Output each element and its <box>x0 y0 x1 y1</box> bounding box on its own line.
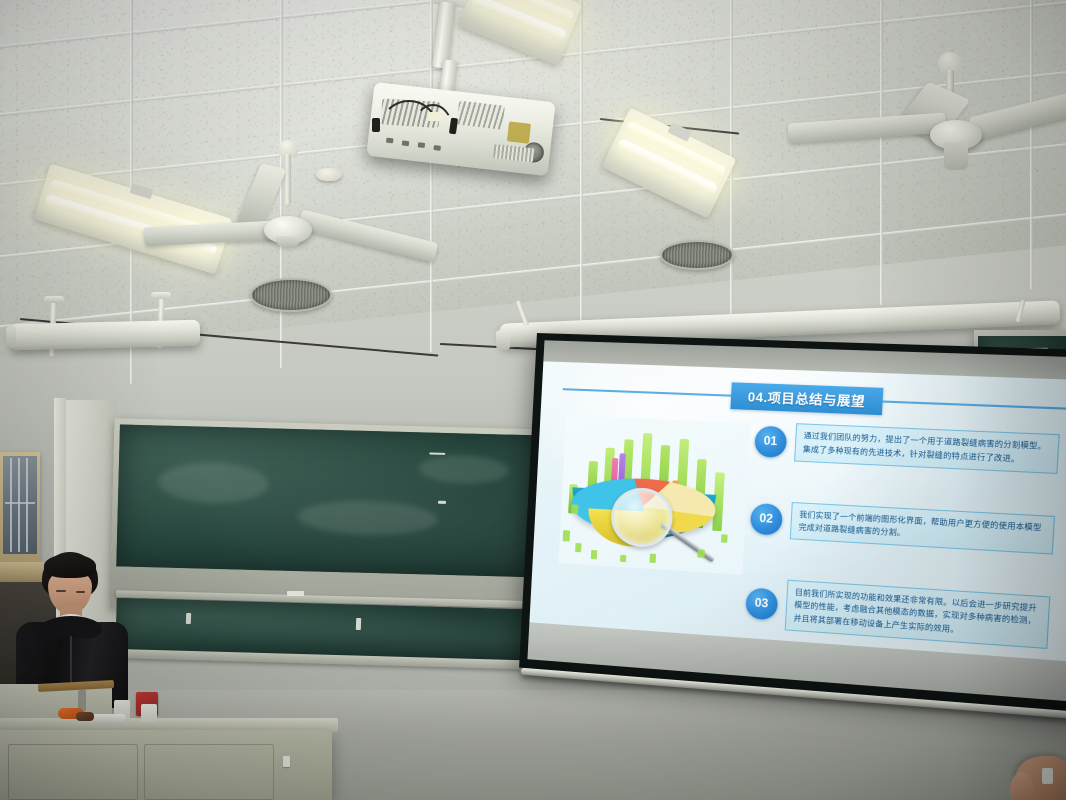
fan-blade <box>143 221 277 247</box>
point-text-02: 我们实现了一个前端的图形化界面，帮助用户更方便的使用本模型完成对道路裂缝病害的分… <box>789 502 1055 555</box>
confetti-icon <box>575 543 582 552</box>
confetti-icon <box>698 549 705 558</box>
barred-window-glass <box>3 456 37 554</box>
confetti-icon <box>721 534 728 543</box>
ceiling-fan-right <box>790 52 1060 167</box>
projection-screen: 04.项目总结与展望 <box>519 333 1066 712</box>
point-badge-03: 03 <box>745 587 778 620</box>
presenter-eye <box>76 591 85 593</box>
chalkboard-left-upper <box>116 424 550 577</box>
projector-button[interactable] <box>402 140 410 146</box>
projection-screen-roller-left[interactable] <box>10 320 201 351</box>
screen-roller-bracket-foot <box>44 296 64 303</box>
screen-surface: 04.项目总结与展望 <box>527 340 1066 701</box>
fan-motor <box>944 142 968 170</box>
point-text-03: 目前我们所实现的功能和效果还非常有限。以后会进一步研究提升模型的性能，考虑融合其… <box>784 580 1050 649</box>
screen-roller-bracket-foot <box>151 292 171 299</box>
chalk-piece[interactable] <box>356 618 361 630</box>
projector-button[interactable] <box>433 145 441 151</box>
projector-button[interactable] <box>386 138 394 144</box>
slide-title: 04.项目总结与展望 <box>730 382 883 415</box>
roller-end-cap <box>6 326 16 348</box>
slide-points-column: 01 通过我们团队的努力，提出了一个用于道路裂缝病害的分割模型。集成了多种现有的… <box>739 420 1066 651</box>
foreground-hand-thumb <box>1010 772 1034 800</box>
slide-point-03: 03 目前我们所实现的功能和效果还非常有限。以后会进一步研究提升模型的性能，考虑… <box>744 577 1050 649</box>
title-rule-left <box>562 388 733 397</box>
projector-plug <box>372 118 380 132</box>
fan-blade <box>969 91 1066 141</box>
desk-lock-plate <box>283 756 290 767</box>
ceiling-air-vent <box>250 278 332 312</box>
desk-drawer-panel[interactable] <box>144 744 274 800</box>
ceiling-air-vent <box>660 240 734 270</box>
slide-point-01: 01 通过我们团队的努力，提出了一个用于道路裂缝病害的分割模型。集成了多种现有的… <box>754 422 1060 474</box>
smoke-detector <box>316 168 342 181</box>
held-white-object <box>1042 768 1053 784</box>
slide-illustration-column <box>530 411 750 627</box>
confetti-icon <box>563 530 571 541</box>
presentation-slide: 04.项目总结与展望 <box>529 361 1066 662</box>
confetti-icon <box>591 550 598 559</box>
point-badge-01: 01 <box>754 425 787 457</box>
confetti-icon <box>649 553 656 562</box>
projector-vent-icon <box>456 101 504 130</box>
pie-bar-chart-illustration <box>558 416 750 574</box>
projector-warning-label <box>507 121 531 143</box>
brown-object[interactable] <box>76 712 94 721</box>
fan-rod <box>284 154 291 204</box>
fan-blade <box>787 113 946 144</box>
confetti-icon <box>620 555 627 563</box>
chalk-piece[interactable] <box>186 613 191 624</box>
projector-button[interactable] <box>418 142 426 148</box>
fan-motor <box>276 236 300 247</box>
chalk-piece[interactable] <box>287 591 304 596</box>
desk-drawer-panel[interactable] <box>8 744 138 800</box>
fan-blade <box>298 209 438 262</box>
classroom-photo: 04.项目总结与展望 <box>0 0 1066 800</box>
point-text-01: 通过我们团队的努力，提出了一个用于道路裂缝病害的分割模型。集成了多种现有的先进技… <box>794 424 1060 474</box>
title-rule-right <box>880 401 1066 410</box>
point-badge-02: 02 <box>749 503 782 536</box>
confetti-icon <box>572 504 579 513</box>
slide-point-02: 02 我们实现了一个前端的图形化界面，帮助用户更方便的使用本模型完成对道路裂缝病… <box>749 500 1055 555</box>
presenter-fringe <box>44 554 96 578</box>
roller-end-cap <box>496 330 511 350</box>
white-box[interactable] <box>141 704 157 722</box>
projector-tag <box>428 112 442 121</box>
presenter-hood <box>40 616 102 638</box>
slide-body: 01 通过我们团队的努力，提出了一个用于道路裂缝病害的分割模型。集成了多种现有的… <box>530 411 1066 651</box>
presenter-eye <box>56 590 66 592</box>
presenter <box>12 552 142 702</box>
